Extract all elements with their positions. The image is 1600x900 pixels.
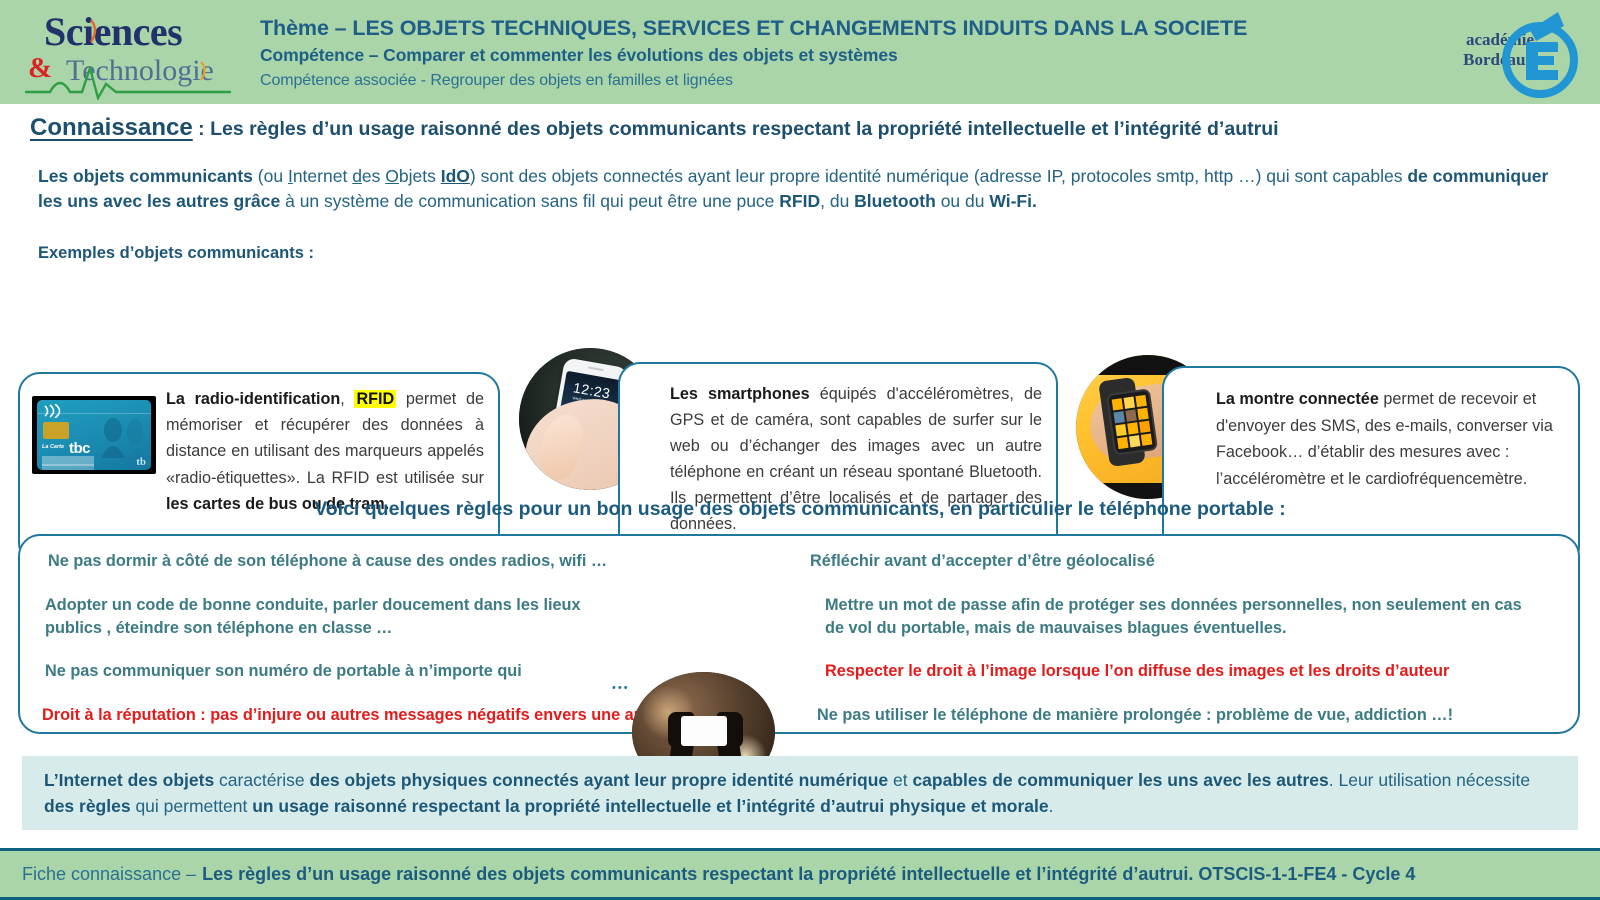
rfid-bold-1: La radio-identification: [166, 390, 340, 408]
summary-bold-5: un usage raisonné respectant la propriét…: [252, 796, 1048, 816]
intro-text-7: , du: [820, 191, 854, 211]
tbc-statue-graphic: [99, 414, 147, 460]
summary-text-4: qui permettent: [131, 796, 253, 816]
theme-line: Thème – LES OBJETS TECHNIQUES, SERVICES …: [260, 15, 1422, 42]
rule-right-2: Mettre un mot de passe afin de protéger …: [825, 594, 1535, 640]
decorative-dots: •••: [612, 682, 630, 694]
intro-underline-d: d: [352, 166, 362, 186]
intro-underline-ido: IdO: [441, 166, 470, 186]
summary-text: L’Internet des objets caractérise des ob…: [44, 767, 1558, 820]
knowledge-label: Connaissance: [30, 114, 193, 141]
footer-prefix: Fiche connaissance –: [22, 864, 196, 885]
header-title-group: Thème – LES OBJETS TECHNIQUES, SERVICES …: [246, 11, 1422, 92]
summary-bold-1: L’Internet des objets: [44, 770, 214, 790]
rfid-chip-icon: [43, 422, 69, 439]
intro-underline-o: O: [385, 166, 399, 186]
intro-text-8: ou du: [936, 191, 990, 211]
intro-paragraph: Les objets communicants (ou Internet des…: [38, 164, 1558, 214]
page-footer: Fiche connaissance – Les règles d’un usa…: [0, 848, 1600, 900]
rfid-transit-card-image: La Carte tbc tb: [32, 396, 156, 474]
page-body: Connaissance : Les règles d’un usage rai…: [0, 104, 1600, 848]
rule-left-1: Ne pas dormir à côté de son téléphone à …: [48, 550, 648, 573]
fiche-connaissance-page: Sciences & Technologie Thème – LES OBJET…: [0, 0, 1600, 900]
knowledge-title-line: Connaissance : Les règles d’un usage rai…: [30, 114, 1580, 142]
academie-emblem-icon: [1488, 8, 1584, 100]
summary-text-1: caractérise: [214, 770, 309, 790]
watch-tiles-graphic: [1112, 395, 1153, 449]
rule-right-4: Ne pas utiliser le téléphone de manière …: [817, 704, 1557, 727]
theme-text: LES OBJETS TECHNIQUES, SERVICES ET CHANG…: [352, 16, 1247, 40]
logo-sciences-text: Sciences: [44, 8, 182, 55]
rule-right-1: Réfléchir avant d’accepter d’être géoloc…: [810, 550, 1410, 573]
intro-bold-rfid: RFID: [779, 191, 820, 211]
footer-main-text: Les règles d’un usage raisonné des objet…: [202, 864, 1415, 885]
rules-box: Ne pas dormir à côté de son téléphone à …: [18, 534, 1580, 734]
smartphone-bold-1: Les smartphones: [670, 385, 810, 403]
examples-label: Exemples d’objets communicants :: [38, 244, 314, 263]
smartwatch-card-text: La montre connectée permet de recevoir e…: [1216, 386, 1566, 492]
intro-text-4: bjets: [399, 166, 441, 186]
summary-text-5: .: [1049, 796, 1054, 816]
rfid-waves-icon: [42, 404, 68, 418]
competence-line: Compétence – Comparer et commenter les é…: [260, 44, 1422, 68]
sciences-technologie-logo: Sciences & Technologie: [18, 4, 246, 100]
smartwatch-bold-1: La montre connectée: [1216, 390, 1379, 408]
intro-text-6: à un système de communication sans fil q…: [280, 191, 779, 211]
summary-bold-3: capables de communiquer les uns avec les…: [912, 770, 1328, 790]
theme-label: Thème –: [260, 16, 352, 40]
summary-text-2: et: [888, 770, 912, 790]
rule-left-2: Adopter un code de bonne conduite, parle…: [45, 594, 605, 640]
tbc-corner-label: tb: [136, 456, 146, 468]
intro-text-2: nternet: [293, 166, 352, 186]
summary-text-3: . Leur utilisation nécessite: [1329, 770, 1530, 790]
knowledge-separator: :: [193, 118, 210, 140]
intro-bold-bluetooth: Bluetooth: [854, 191, 936, 211]
summary-bold-2: des objets physiques connectés ayant leu…: [310, 770, 889, 790]
intro-text-1: (ou: [253, 166, 288, 186]
competence-associee-line: Compétence associée - Regrouper des obje…: [260, 70, 1422, 92]
summary-bold-4: des règles: [44, 796, 131, 816]
tbc-brand-label: tbc: [69, 440, 90, 457]
rfid-highlight: RFID: [354, 390, 396, 408]
intro-bold-1: Les objets communicants: [38, 166, 253, 186]
tbc-la-carte-label: La Carte: [42, 444, 64, 450]
logo-accent-g-icon: [198, 60, 210, 82]
rfid-text-1: ,: [340, 390, 354, 408]
logo-accent-o-icon: [88, 18, 102, 44]
rule-right-3: Respecter le droit à l’image lorsque l’o…: [825, 660, 1525, 683]
rules-title: Voici quelques règles pour un bon usage …: [0, 498, 1600, 521]
summary-box: L’Internet des objets caractérise des ob…: [22, 756, 1578, 830]
academie-bordeaux-logo: académie Bordeaux: [1422, 4, 1592, 100]
page-header: Sciences & Technologie Thème – LES OBJET…: [0, 0, 1600, 104]
rule-left-3: Ne pas communiquer son numéro de portabl…: [45, 660, 645, 683]
intro-bold-wifi: Wi-Fi.: [989, 191, 1036, 211]
intro-text-5: ) sont des objets connectés ayant leur p…: [470, 166, 1407, 186]
knowledge-title: Les règles d’un usage raisonné des objet…: [210, 118, 1278, 140]
intro-text-3: es: [362, 166, 385, 186]
